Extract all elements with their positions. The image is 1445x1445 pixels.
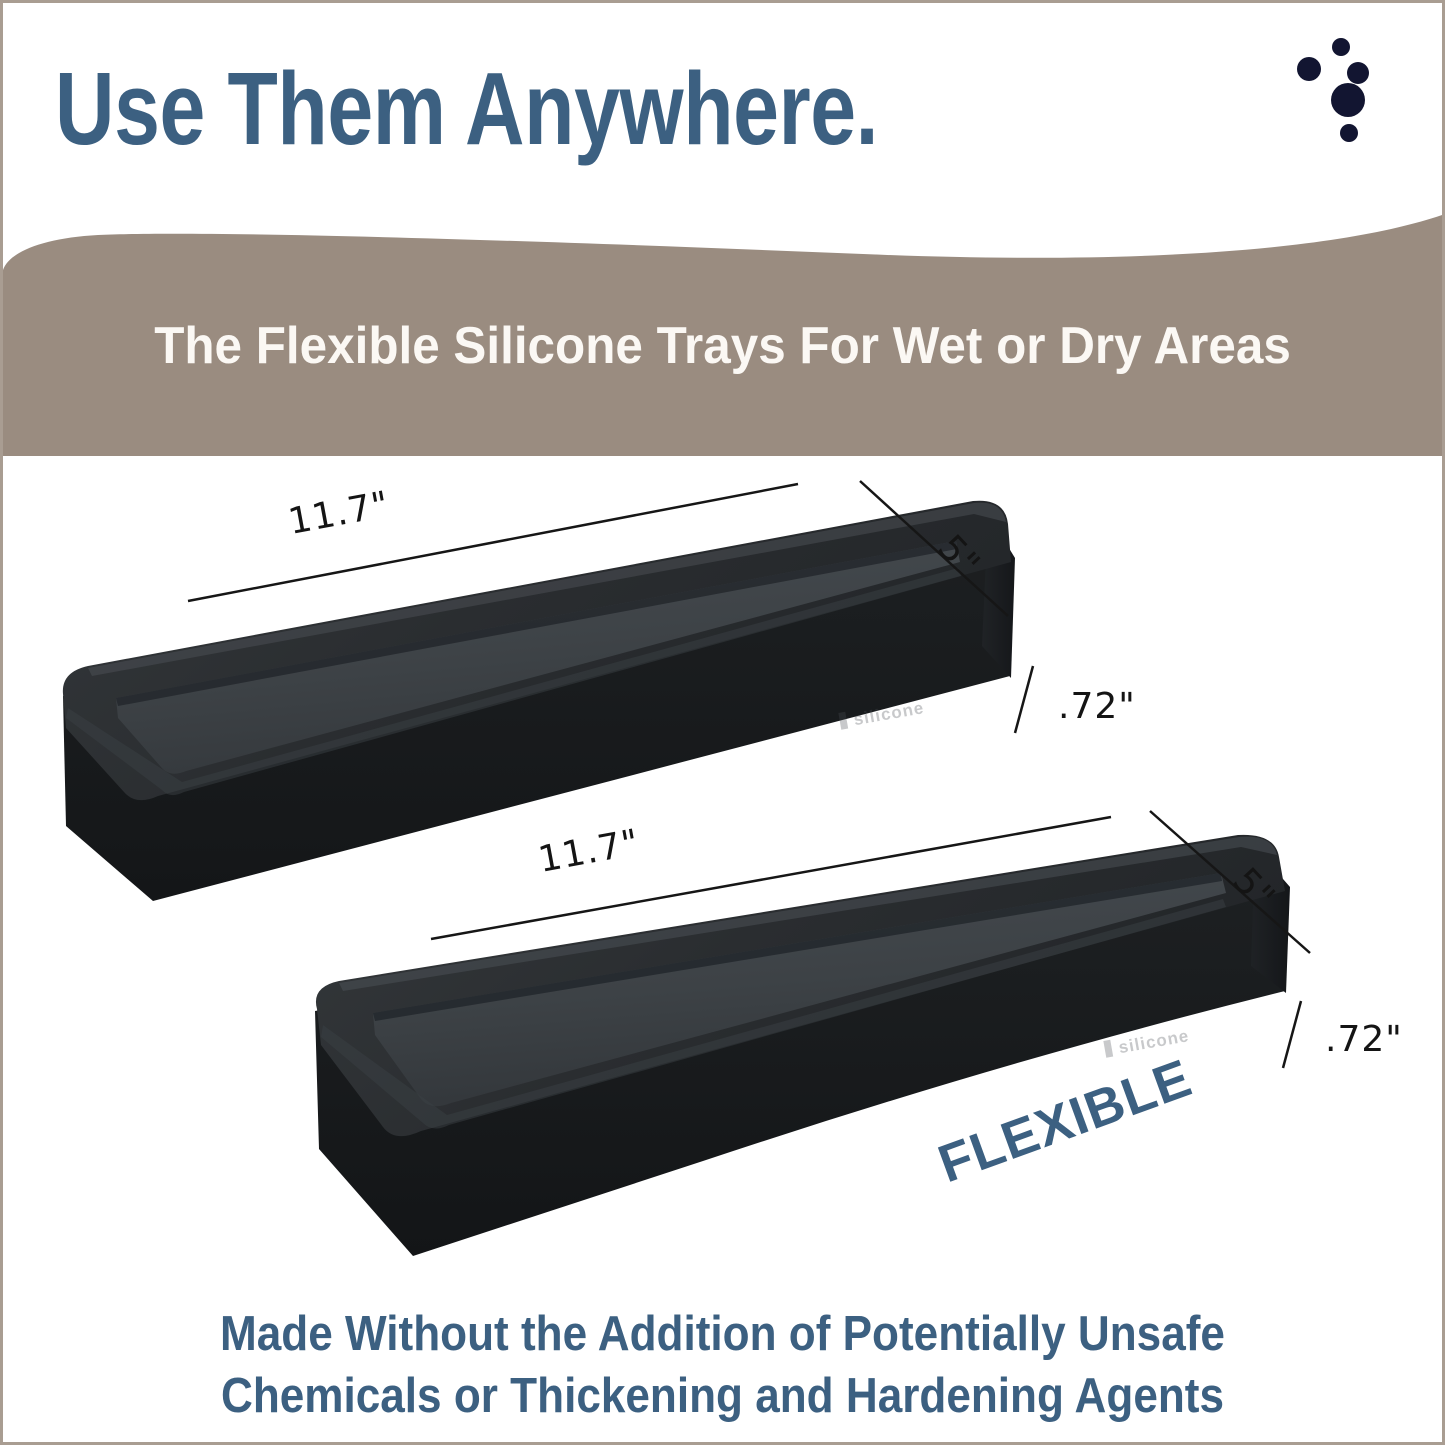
dimension-label-height-top: .72" xyxy=(1058,686,1136,727)
dot-5 xyxy=(1340,124,1358,142)
dimension-line-height-top xyxy=(1003,661,1048,741)
dot-3 xyxy=(1347,62,1369,84)
dimension-line-length-bottom xyxy=(423,809,1123,949)
dots-cluster-icon xyxy=(1298,33,1445,193)
footer-caption: Made Without the Addition of Potentially… xyxy=(75,1303,1370,1427)
dot-2 xyxy=(1297,57,1321,81)
dot-4 xyxy=(1331,83,1365,117)
caption-line-2: Chemicals or Thickening and Hardening Ag… xyxy=(75,1365,1370,1427)
caption-line-1: Made Without the Addition of Potentially… xyxy=(75,1303,1370,1365)
dimension-label-height-bottom: .72" xyxy=(1325,1019,1403,1060)
dimension-line-height-bottom xyxy=(1271,996,1316,1076)
product-stage: silicone 11.7" 5" .72" xyxy=(3,456,1442,1336)
banner-subtitle: The Flexible Silicone Trays For Wet or D… xyxy=(39,316,1406,376)
dot-1 xyxy=(1332,38,1350,56)
subtitle-banner: The Flexible Silicone Trays For Wet or D… xyxy=(3,208,1442,456)
page-title: Use Them Anywhere. xyxy=(55,55,878,163)
product-infographic: Use Them Anywhere. The Flexible Silicone… xyxy=(0,0,1445,1445)
dimension-line-length-top xyxy=(178,476,818,611)
